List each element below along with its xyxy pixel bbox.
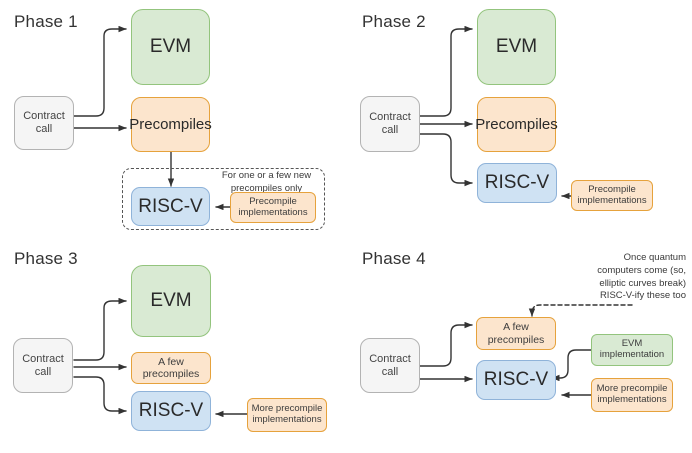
phase-1-contract-call[interactable]: Contract call xyxy=(14,96,74,150)
phase-1-precompiles-box[interactable]: Precompiles xyxy=(131,97,210,152)
phase-3-more-precompile-implementations-box[interactable]: More precompile implementations xyxy=(247,398,327,432)
wire-p4-quantum-note-to-afew xyxy=(532,305,632,316)
wire-p2-call-to-riscv xyxy=(420,134,472,183)
phase-4-evm-implementation-box[interactable]: EVM implementation xyxy=(591,334,673,366)
wire-p3-call-to-riscv xyxy=(74,377,126,411)
wire-p3-call-to-evm xyxy=(74,301,126,360)
wire-p4-evmimpl-to-riscv xyxy=(552,350,592,378)
phase-3-a-few-precompiles-box[interactable]: A few precompiles xyxy=(131,352,211,384)
phase-2-precompile-implementations-box[interactable]: Precompile implementations xyxy=(571,180,653,211)
wire-p2-call-to-evm xyxy=(420,29,472,116)
phase-4-more-precompile-implementations-box[interactable]: More precompile implementations xyxy=(591,378,673,412)
phase-1-riscv-box[interactable]: RISC-V xyxy=(131,187,210,226)
wire-p4-call-to-afew xyxy=(420,325,472,366)
phase-4-a-few-precompiles-box[interactable]: A few precompiles xyxy=(476,317,556,350)
connector-layer xyxy=(0,0,692,453)
phase-3-contract-call[interactable]: Contract call xyxy=(13,338,73,393)
phase-3-evm-box[interactable]: EVM xyxy=(131,265,211,337)
phase-2-riscv-box[interactable]: RISC-V xyxy=(477,163,557,203)
phase-3-title: Phase 3 xyxy=(14,249,78,269)
wire-p1-call-to-evm xyxy=(74,29,126,116)
diagram-canvas: Phase 1 Contract call EVM Precompiles Fo… xyxy=(0,0,692,453)
phase-3-riscv-box[interactable]: RISC-V xyxy=(131,391,211,431)
phase-1-evm-box[interactable]: EVM xyxy=(131,9,210,85)
phase-2-precompiles-box[interactable]: Precompiles xyxy=(477,97,556,152)
phase-4-title: Phase 4 xyxy=(362,249,426,269)
phase-2-evm-box[interactable]: EVM xyxy=(477,9,556,85)
phase-1-precompile-implementations-box[interactable]: Precompile implementations xyxy=(230,192,316,223)
phase-4-riscv-box[interactable]: RISC-V xyxy=(476,360,556,400)
phase-4-quantum-note: Once quantum computers come (so, ellipti… xyxy=(570,252,686,303)
phase-2-title: Phase 2 xyxy=(362,12,426,32)
phase-1-title: Phase 1 xyxy=(14,12,78,32)
phase-4-contract-call[interactable]: Contract call xyxy=(360,338,420,393)
phase-2-contract-call[interactable]: Contract call xyxy=(360,96,420,152)
